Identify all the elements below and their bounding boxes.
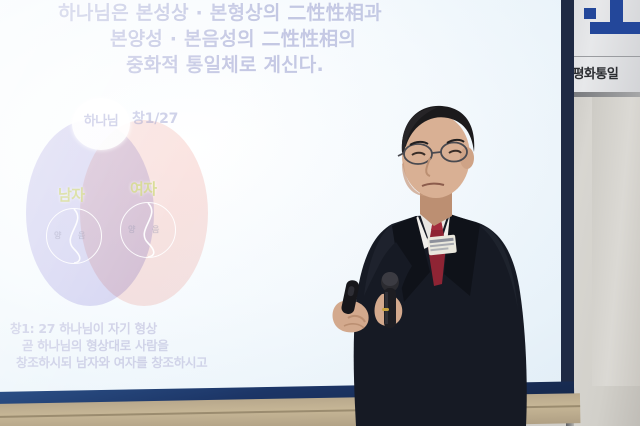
slide-title: 하나님은 본성상 · 본형상의 二性性相과 본양성 · 본음성의 二性性相의 중… bbox=[10, 0, 430, 78]
diagram-female-yin: 음 bbox=[152, 224, 158, 235]
speaker-figure bbox=[330, 96, 560, 426]
diagram-male-yang: 양 bbox=[54, 230, 60, 241]
photo-scene: 계평화통일 하나님은 본성상 · 본형상의 二性性相과 본양성 · 본음성의 二… bbox=[0, 0, 640, 426]
verse-line-1: 창1: 27 하나님이 자기 형상 bbox=[10, 320, 330, 337]
speaker-ring bbox=[382, 308, 389, 311]
diagram-verse-reference: 창1/27 bbox=[132, 108, 178, 128]
diagram-female-label: 여자 bbox=[130, 178, 157, 199]
name-badge bbox=[427, 235, 457, 256]
diagram-female-yang: 양 bbox=[128, 224, 134, 235]
diagram-god-label: 하나님 bbox=[72, 110, 130, 129]
slide-title-line-1: 하나님은 본성상 · 본형상의 二性性相과 bbox=[10, 0, 430, 26]
slide-verse-block: 창1: 27 하나님이 자기 형상 곧 하나님의 형상대로 사람을 창조하시되 … bbox=[10, 320, 330, 371]
verse-line-2: 곧 하나님의 형상대로 사람을 bbox=[10, 337, 330, 354]
verse-line-3: 창조하시되 남자와 여자를 창조하시고 bbox=[10, 354, 330, 371]
diagram-male-yin: 음 bbox=[78, 230, 84, 241]
diagram-male-yinyang: 양 음 bbox=[46, 208, 102, 264]
slide-diagram: 하나님 창1/27 남자 여자 양 음 bbox=[10, 98, 220, 314]
organization-logo-icon bbox=[582, 0, 640, 46]
room-wall-recess bbox=[592, 86, 640, 386]
diagram-female-yinyang: 양 음 bbox=[120, 202, 176, 258]
slide-title-line-2: 본양성 · 본음성의 二性性相의 bbox=[10, 26, 430, 52]
diagram-male-label: 남자 bbox=[58, 184, 85, 205]
slide-title-line-3: 중화적 통일체로 계신다. bbox=[10, 52, 430, 78]
